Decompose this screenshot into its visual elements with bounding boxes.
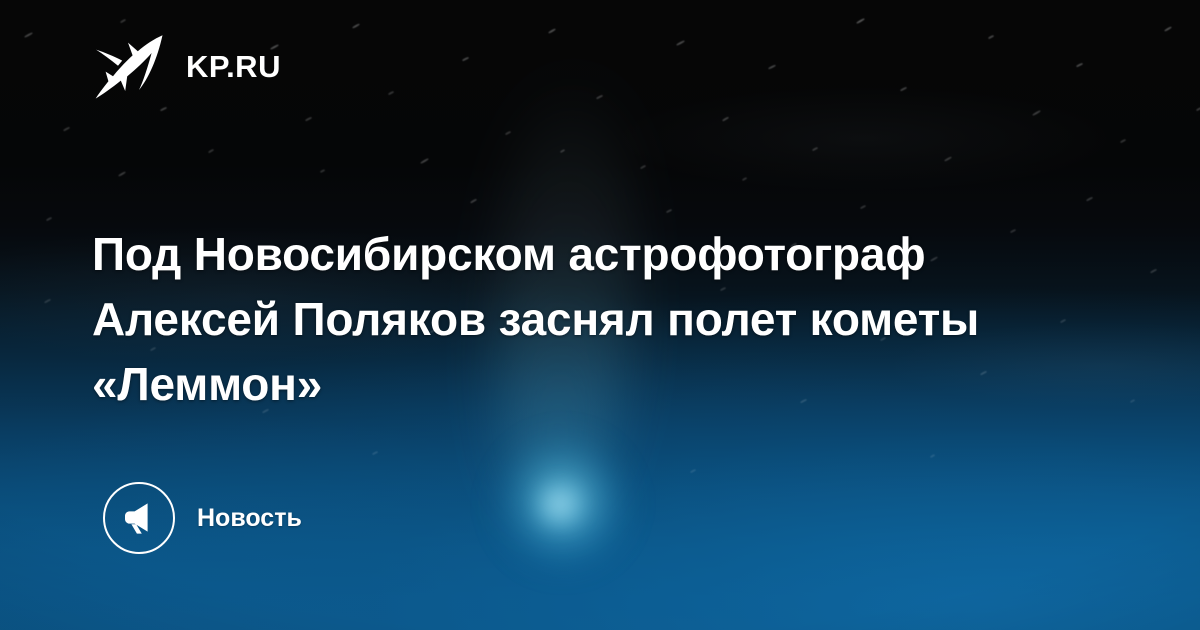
- status-badge-label: Новость: [197, 506, 302, 531]
- brand-logo[interactable]: KP.RU: [92, 32, 281, 100]
- status-badge[interactable]: Новость: [103, 482, 302, 554]
- megaphone-icon-circle: [103, 482, 175, 554]
- megaphone-icon: [119, 498, 159, 538]
- brand-name-label: KP.RU: [186, 51, 281, 82]
- swallow-bird-icon: [92, 33, 166, 99]
- card-content: KP.RU Под Новосибирском астрофотограф Ал…: [0, 0, 1200, 630]
- share-card: KP.RU Под Новосибирском астрофотограф Ал…: [0, 0, 1200, 630]
- page-title: Под Новосибирском астрофотограф Алексей …: [92, 222, 1102, 417]
